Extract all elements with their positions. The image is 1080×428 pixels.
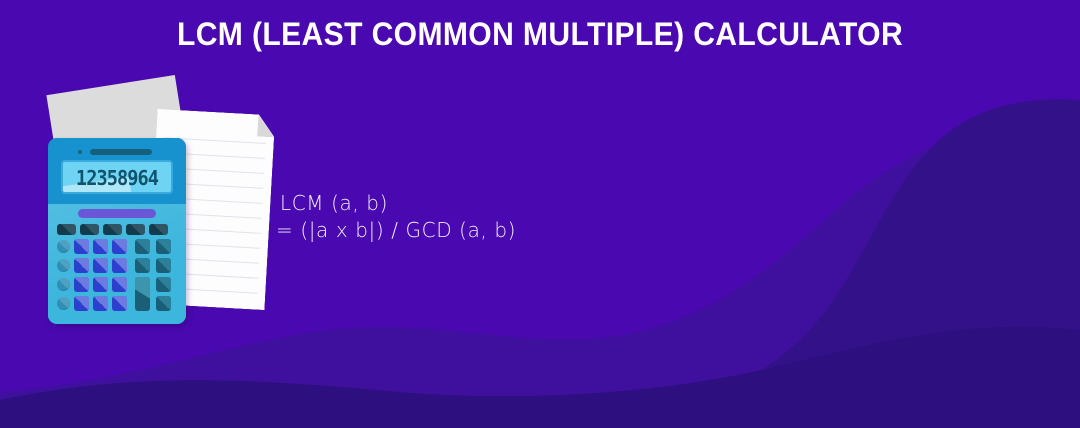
lcm-formula: LCM (a, b) = (|a x b|) / GCD (a, b) — [280, 190, 516, 244]
key-number-0[interactable] — [74, 296, 89, 311]
calculator-indicator-dot — [78, 150, 82, 154]
key-number-2[interactable] — [93, 239, 108, 254]
calculator-device[interactable]: 12358964 — [48, 138, 186, 324]
key-number-5[interactable] — [93, 258, 108, 273]
key-round-2[interactable] — [57, 259, 70, 272]
lcm-calculator-banner: LCM (LEAST COMMON MULTIPLE) CALCULATOR 1… — [0, 0, 1080, 428]
key-operator-5[interactable] — [156, 277, 171, 292]
key-number-4[interactable] — [74, 258, 89, 273]
key-function-4[interactable] — [126, 224, 145, 235]
key-operator-2[interactable] — [156, 239, 171, 254]
key-number-7[interactable] — [74, 277, 89, 292]
calculator-keypad[interactable] — [57, 224, 177, 316]
key-round-4[interactable] — [57, 297, 70, 310]
display-value: 12358964 — [67, 166, 167, 190]
calculator-top-panel: 12358964 — [48, 138, 186, 204]
calculator-display: 12358964 — [61, 160, 173, 194]
key-number-10[interactable] — [112, 296, 127, 311]
key-number-3[interactable] — [112, 239, 127, 254]
calculator-lower-body — [48, 204, 186, 324]
key-function-2[interactable] — [80, 224, 99, 235]
key-operator-equals[interactable] — [135, 277, 150, 311]
key-number-9[interactable] — [112, 277, 127, 292]
key-number-6[interactable] — [112, 258, 127, 273]
key-function-3[interactable] — [103, 224, 122, 235]
formula-line-1: LCM (a, b) — [280, 190, 516, 217]
calculator-brand-bar — [78, 209, 156, 218]
key-function-5[interactable] — [149, 224, 168, 235]
key-round-3[interactable] — [57, 278, 70, 291]
key-operator-4[interactable] — [156, 258, 171, 273]
key-function-1[interactable] — [57, 224, 76, 235]
key-number-decimal[interactable] — [93, 296, 108, 311]
key-round-1[interactable] — [57, 240, 70, 253]
key-operator-6[interactable] — [156, 296, 171, 311]
key-operator-3[interactable] — [135, 258, 150, 273]
formula-line-2: = (|a x b|) / GCD (a, b) — [276, 217, 516, 244]
calculator-solar-strip — [90, 149, 152, 155]
key-number-1[interactable] — [74, 239, 89, 254]
key-number-8[interactable] — [93, 277, 108, 292]
key-operator-1[interactable] — [135, 239, 150, 254]
